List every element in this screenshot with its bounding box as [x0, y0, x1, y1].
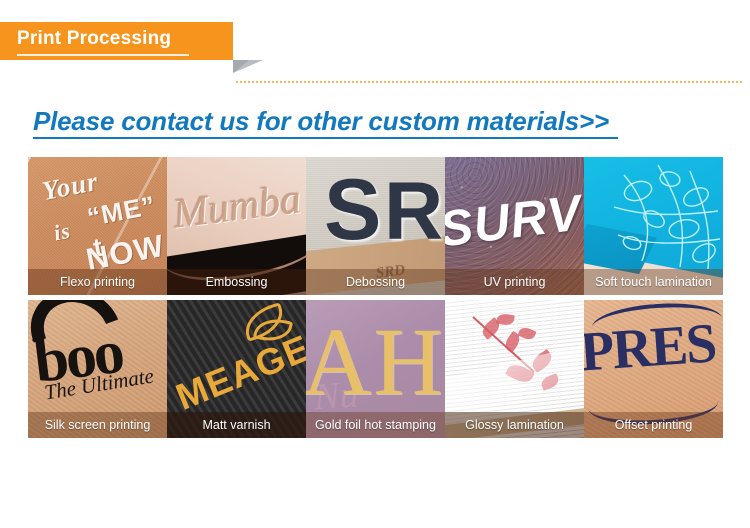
- art-text: PRES: [584, 311, 717, 384]
- tile-caption: Gold foil hot stamping: [306, 412, 445, 438]
- gallery-tile-silk-screen-printing[interactable]: boo The Ultimate Silk screen printing: [28, 300, 167, 438]
- gallery-tile-gold-foil-hot-stamping[interactable]: Nu AHC Gold foil hot stamping: [306, 300, 445, 438]
- art-text: is: [52, 218, 73, 247]
- art-text: SURVI: [445, 182, 584, 259]
- gallery-tile-offset-printing[interactable]: PRES Offset printing: [584, 300, 723, 438]
- banner-fold-shadow-icon: [233, 60, 249, 73]
- art-text: R: [384, 165, 443, 259]
- page-title: Print Processing: [17, 28, 171, 50]
- section-header: Print Processing: [0, 22, 750, 60]
- gallery-tile-embossing[interactable]: Mumba Embossing: [167, 157, 306, 295]
- art-text: MEAGE: [170, 327, 306, 419]
- tile-caption: Matt varnish: [167, 412, 306, 438]
- tile-caption: Glossy lamination: [445, 412, 584, 438]
- gallery-tile-uv-printing[interactable]: SURVI UV printing: [445, 157, 584, 295]
- headline-underline: [33, 137, 618, 139]
- tile-caption: Embossing: [167, 269, 306, 295]
- gallery-row: Your “ME” t is NOW Flexo printing Mumba …: [28, 157, 722, 295]
- art-text: S: [324, 161, 381, 260]
- gallery-tile-soft-touch-lamination[interactable]: Soft touch lamination: [584, 157, 723, 295]
- tile-caption: Silk screen printing: [28, 412, 167, 438]
- custom-materials-link[interactable]: Please contact us for other custom mater…: [33, 106, 609, 137]
- section-header-tab: Print Processing: [0, 22, 233, 60]
- title-underline: [17, 54, 189, 56]
- tile-caption: Soft touch lamination: [584, 269, 723, 295]
- gallery-tile-debossing[interactable]: S R SRD Debossing: [306, 157, 445, 295]
- art-text: AHC: [306, 306, 445, 417]
- gallery-tile-flexo-printing[interactable]: Your “ME” t is NOW Flexo printing: [28, 157, 167, 295]
- process-gallery: Your “ME” t is NOW Flexo printing Mumba …: [28, 157, 722, 438]
- tile-caption: UV printing: [445, 269, 584, 295]
- gallery-tile-matt-varnish[interactable]: MEAGE Matt varnish: [167, 300, 306, 438]
- tile-caption: Flexo printing: [28, 269, 167, 295]
- tile-caption: Offset printing: [584, 412, 723, 438]
- gallery-row: boo The Ultimate Silk screen printing ME…: [28, 300, 722, 438]
- tile-caption: Debossing: [306, 269, 445, 295]
- art-petal: [517, 325, 536, 342]
- gallery-tile-glossy-lamination[interactable]: Glossy lamination: [445, 300, 584, 438]
- header-divider: [236, 81, 742, 83]
